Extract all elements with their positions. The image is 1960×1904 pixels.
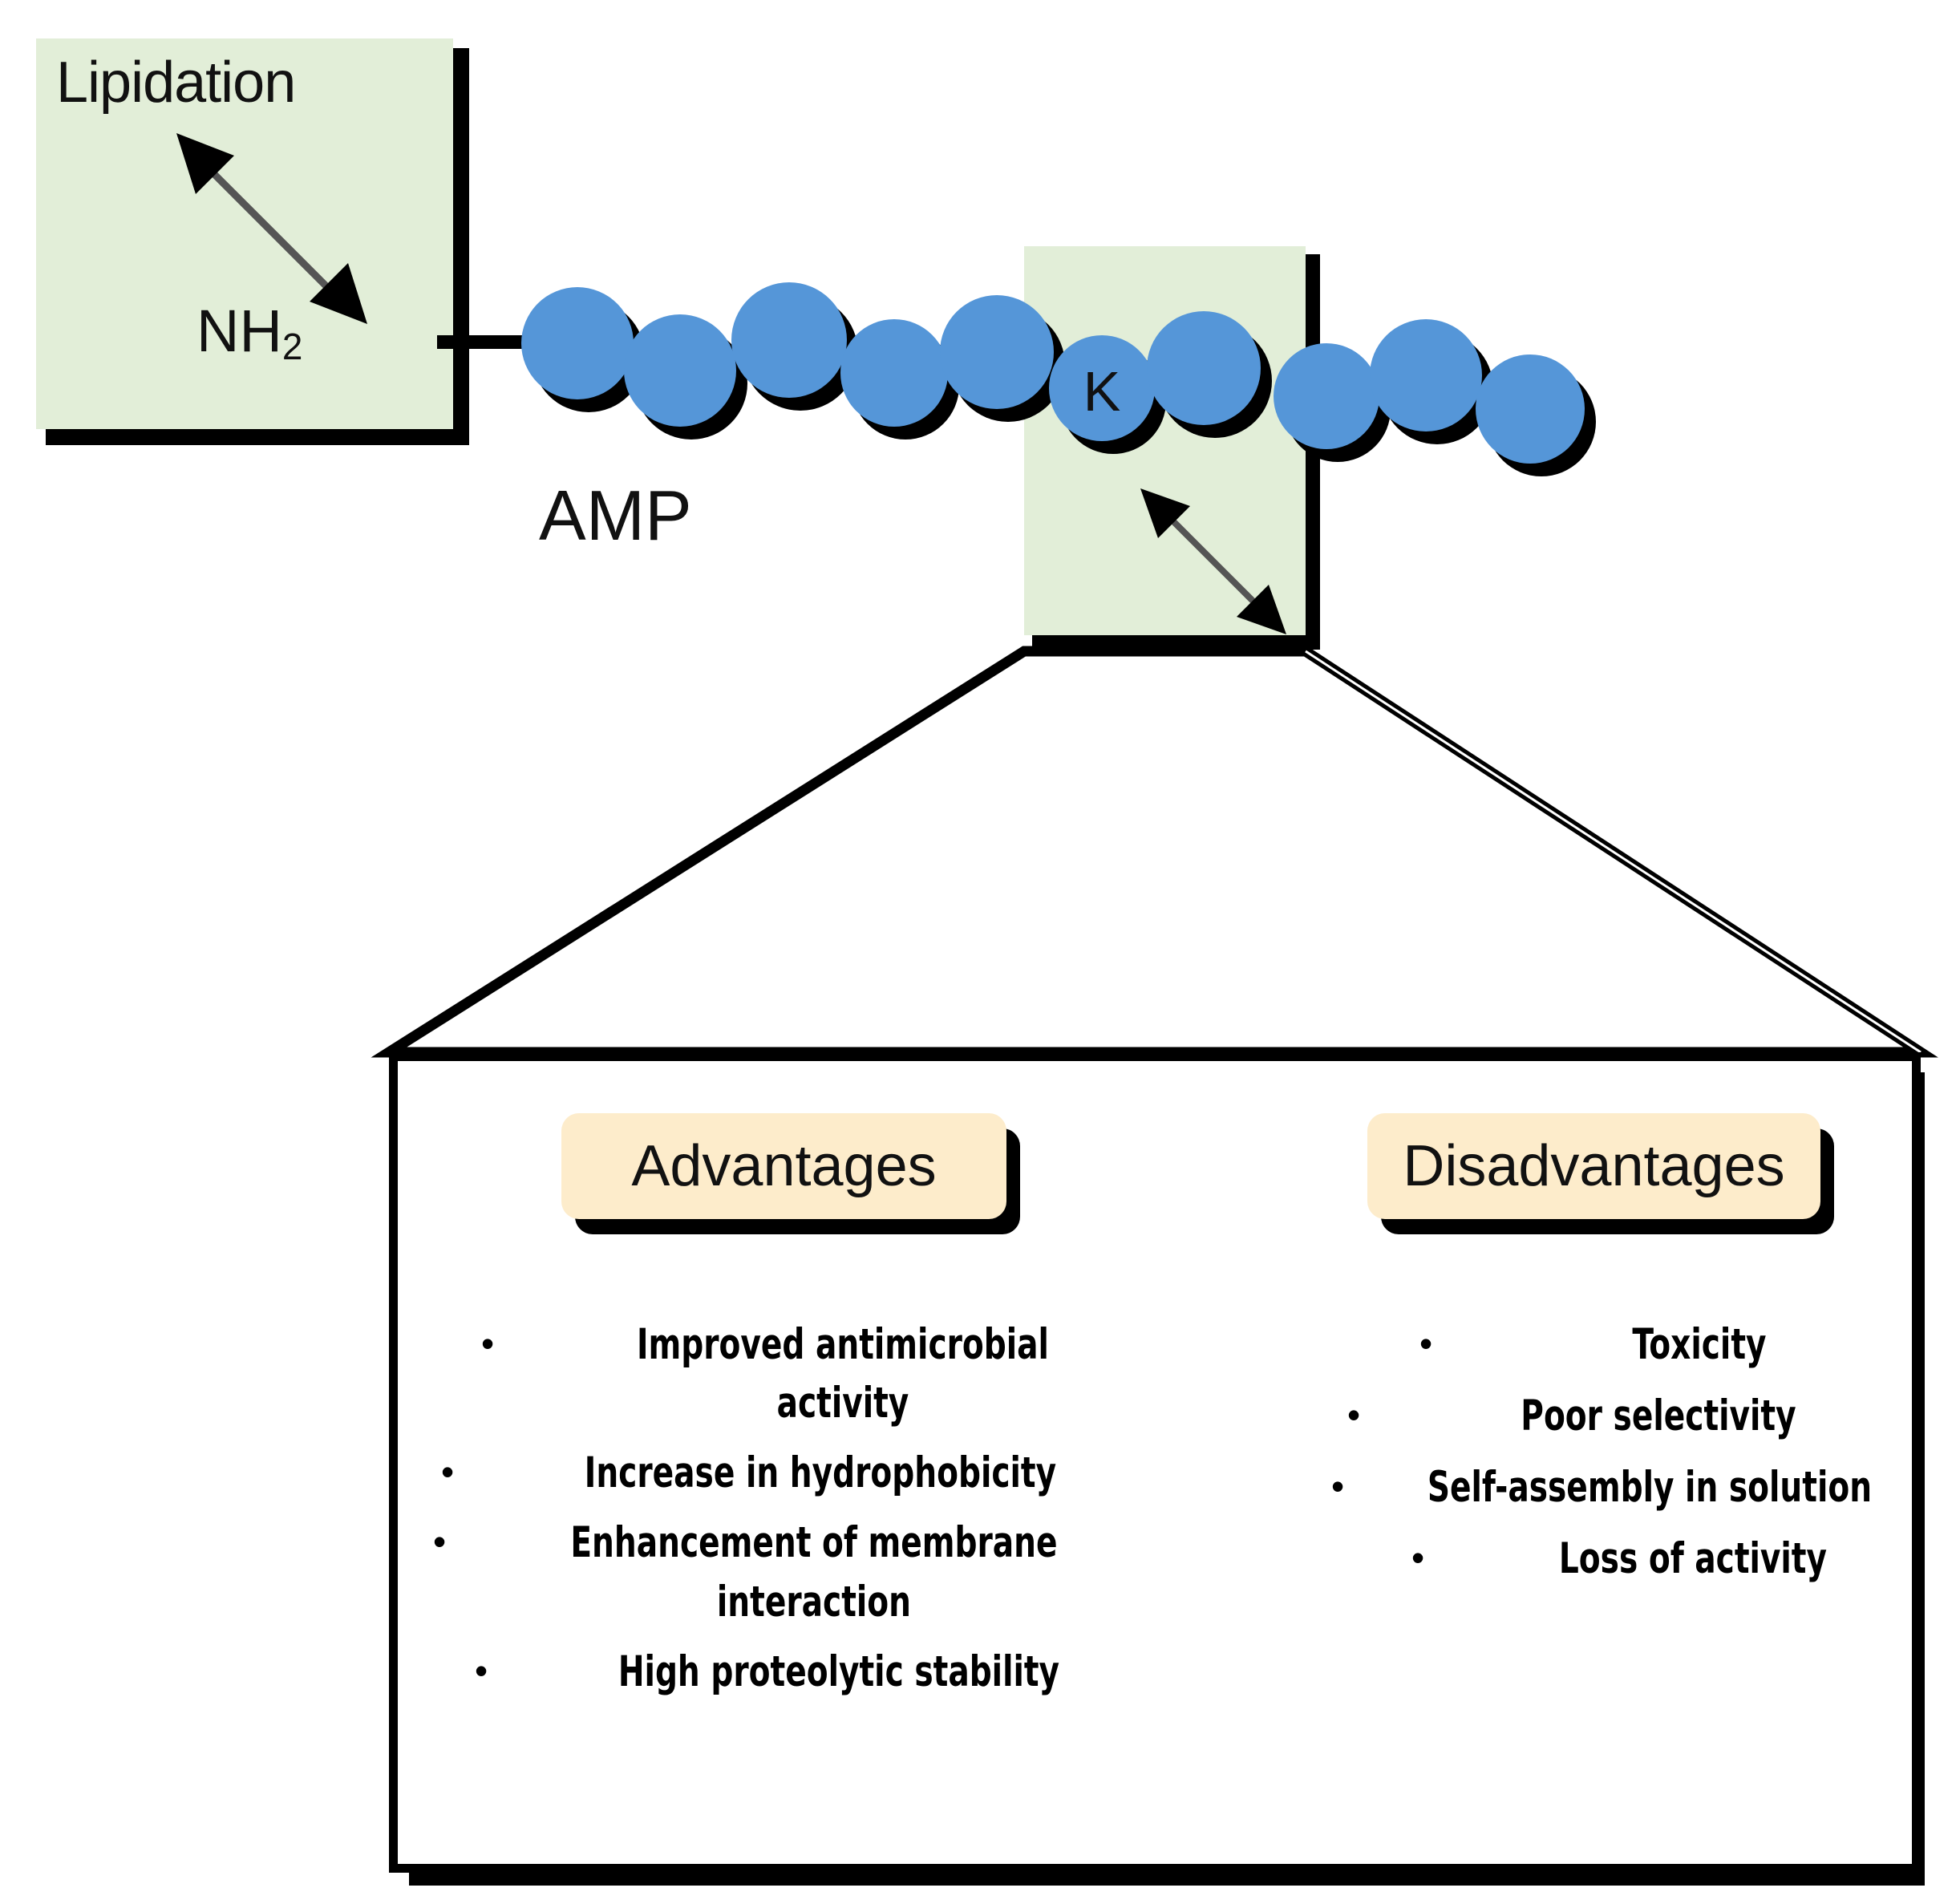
list-item-label: Self-assembly in solution	[1424, 1458, 1875, 1517]
amp-label: AMP	[539, 475, 692, 557]
list-item-label: Loss of activity	[1503, 1529, 1883, 1588]
panel-shadow-right	[453, 48, 469, 445]
disadvantages-list: • Toxicity • Poor selectivity • Self-ass…	[1315, 1315, 1925, 1602]
peptide-bead	[840, 319, 948, 427]
peptide-bead	[624, 314, 736, 427]
peptide-bead	[1147, 311, 1261, 425]
bullet-icon: •	[1411, 1529, 1424, 1576]
disadvantages-header-label: Disadvantages	[1403, 1137, 1784, 1195]
list-item: • Toxicity	[1315, 1315, 1925, 1374]
list-item-label: Improved antimicrobial activity	[587, 1315, 1099, 1432]
advantages-list: • Improved antimicrobial activity • Incr…	[433, 1315, 1155, 1712]
info-box-shadow-bottom	[409, 1873, 1925, 1886]
peptide-bead-lysine: K	[1049, 335, 1155, 441]
peptide-bead	[1274, 343, 1379, 449]
peptide-bond-line	[437, 335, 533, 349]
list-item: • Poor selectivity	[1315, 1387, 1925, 1445]
list-item: • Improved antimicrobial activity	[433, 1315, 1155, 1432]
peptide-bead	[521, 287, 634, 399]
list-item-label: Poor selectivity	[1440, 1387, 1877, 1445]
list-item: • Increase in hydrophobicity	[433, 1444, 1155, 1502]
bullet-icon: •	[433, 1513, 446, 1560]
list-item-label: Increase in hydrophobicity	[546, 1444, 1095, 1502]
bullet-icon: •	[1419, 1315, 1432, 1362]
advantages-header-label: Advantages	[631, 1137, 936, 1195]
list-item: • High proteolytic stability	[433, 1643, 1155, 1701]
peptide-bead	[940, 295, 1054, 409]
advantages-header-pill: Advantages	[561, 1113, 1006, 1219]
list-item-label: Enhancement of membrane interaction	[535, 1513, 1094, 1631]
peptide-bead	[731, 282, 847, 398]
list-item: • Self-assembly in solution	[1315, 1458, 1925, 1517]
list-item-label: High proteolytic stability	[580, 1643, 1098, 1701]
n-terminus-label: NH2	[196, 297, 302, 368]
diagram-canvas: Lipidation NH2 K AMP Advantages	[0, 0, 1960, 1904]
k-double-headed-arrow-icon	[1137, 485, 1290, 638]
list-item: • Loss of activity	[1315, 1529, 1925, 1588]
k-panel-shadow-right	[1306, 254, 1320, 650]
bullet-icon: •	[1331, 1458, 1344, 1505]
bullet-icon: •	[475, 1643, 488, 1689]
list-item-label: Toxicity	[1515, 1315, 1885, 1374]
bullet-icon: •	[481, 1315, 494, 1362]
callout-trapezoid	[389, 651, 1921, 1052]
peptide-bead	[1476, 354, 1585, 464]
panel-shadow-bottom	[46, 429, 469, 445]
list-item: • Enhancement of membrane interaction	[433, 1513, 1155, 1631]
peptide-bead	[1370, 319, 1482, 431]
bullet-icon: •	[1347, 1387, 1360, 1433]
bullet-icon: •	[441, 1444, 454, 1490]
lysine-letter: K	[1049, 359, 1155, 423]
lipidation-title: Lipidation	[56, 50, 295, 115]
disadvantages-header-pill: Disadvantages	[1367, 1113, 1820, 1219]
